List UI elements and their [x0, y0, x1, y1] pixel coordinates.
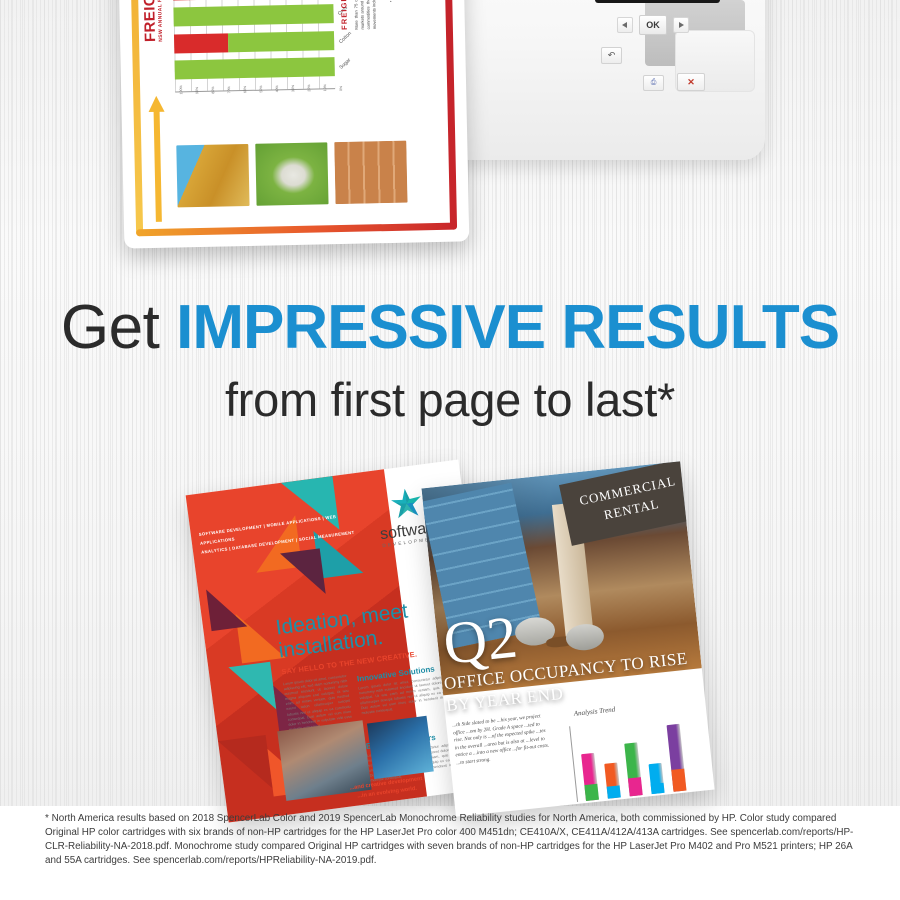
- chart-tick-label: 90%: [195, 87, 199, 94]
- chart-bar-segment-road: [175, 57, 335, 79]
- chart-bar-rows: [170, 0, 335, 83]
- chart-tick-label: 70%: [227, 86, 231, 93]
- headline-accent: IMPRESSIVE RESULTS: [176, 293, 839, 362]
- back-button[interactable]: ↶: [601, 47, 622, 64]
- photo-wheat-field: [176, 144, 249, 207]
- freight-photo-row: [176, 141, 407, 208]
- chart-tick-label: 100%: [179, 85, 183, 94]
- chart-tick-label: 10%: [323, 84, 327, 91]
- rental-body-text: ...th Side slated to be ...his year, we …: [452, 713, 552, 768]
- photo-sheep: [255, 142, 328, 205]
- legal-footnote: * North America results based on 2018 Sp…: [45, 812, 865, 868]
- chart-tick-label: 40%: [275, 85, 279, 92]
- freight-chart-title: FREIGHT MODES: [139, 0, 159, 42]
- analysis-bar: [604, 763, 621, 799]
- chart-tick-labels: 100%90%80%70%60%50%40%30%20%10%0%: [175, 91, 343, 111]
- marketing-banner: Ready OK: [0, 0, 900, 900]
- chart-tick-label: 80%: [211, 86, 215, 93]
- art-shape-red-1: [218, 735, 273, 795]
- photo-screen-code: [367, 716, 434, 779]
- freight-sheet-content: FREIGHT MODES NSW ANNUAL PERCENTAGES FOR…: [140, 0, 444, 226]
- analysis-bar: [667, 724, 687, 792]
- analysis-bar-base: [607, 785, 621, 798]
- chart-tick-label: 30%: [291, 85, 295, 92]
- freight-bullet-list-2: Mining products and grains move from the…: [407, 0, 446, 31]
- chart-tick-label: 50%: [259, 85, 263, 92]
- analysis-bar: [624, 742, 642, 796]
- chart-tick-label: 60%: [243, 86, 247, 93]
- up-arrow-stem: [154, 110, 162, 222]
- chart-bar-row: [173, 2, 333, 29]
- chart-category-label: Cotton: [338, 30, 353, 44]
- art-shape-plum-1: [280, 548, 326, 599]
- freight-bar-chart: 100%90%80%70%60%50%40%30%20%10%0%: [170, 0, 335, 109]
- control-panel-bezel: Ready: [595, 0, 720, 3]
- freight-bullet-list: Volumes of coal and mining materials are…: [383, 0, 397, 33]
- printer-control-panel[interactable]: Ready OK: [595, 0, 720, 110]
- printed-freight-document: FREIGHT MODES NSW ANNUAL PERCENTAGES FOR…: [116, 0, 470, 249]
- chart-bar-segment-road: [228, 31, 334, 52]
- chart-category-label: Sugar: [338, 57, 352, 71]
- analysis-bar-base: [671, 769, 686, 792]
- analysis-bar: [648, 763, 664, 795]
- headline-lead: Get: [61, 293, 159, 362]
- freight-body-text: More than 75 different commodities are t…: [350, 0, 378, 30]
- analysis-bar-base: [584, 784, 599, 801]
- star-burst-icon: [390, 487, 424, 521]
- right-arrow-button[interactable]: [673, 17, 689, 33]
- sheet-border-left: [128, 0, 143, 236]
- print-button[interactable]: ⎙: [643, 75, 664, 91]
- left-arrow-button[interactable]: [617, 17, 633, 33]
- art-shape-plum-3: [206, 585, 247, 631]
- cancel-button[interactable]: ✕: [677, 73, 705, 91]
- analysis-bar-base: [651, 783, 665, 794]
- chart-bar-row: [174, 55, 334, 82]
- chart-bar-row: [174, 29, 334, 56]
- sheet-border-right: [442, 0, 457, 230]
- chart-bar-segment-rail: [174, 33, 229, 53]
- rental-quarter-label: Q2: [441, 607, 520, 672]
- chart-tick-label: 20%: [307, 84, 311, 91]
- page-subheadline: from first page to last*: [0, 375, 900, 425]
- analysis-bar-base: [628, 777, 643, 796]
- art-shape-teal-3: [228, 662, 276, 715]
- ok-button[interactable]: OK: [639, 15, 667, 35]
- photo-timber-stack: [334, 141, 407, 204]
- analysis-bar: [581, 753, 599, 801]
- rental-analysis-chart: [569, 713, 701, 802]
- brochure-commercial-rental: COMMERCIAL RENTAL Q2 OFFICE OCCUPANCY TO…: [421, 461, 714, 816]
- page-headline: Get IMPRESSIVE RESULTS: [0, 296, 900, 360]
- chart-bar-segment-road: [173, 4, 333, 26]
- navigation-button-group[interactable]: OK: [617, 15, 689, 35]
